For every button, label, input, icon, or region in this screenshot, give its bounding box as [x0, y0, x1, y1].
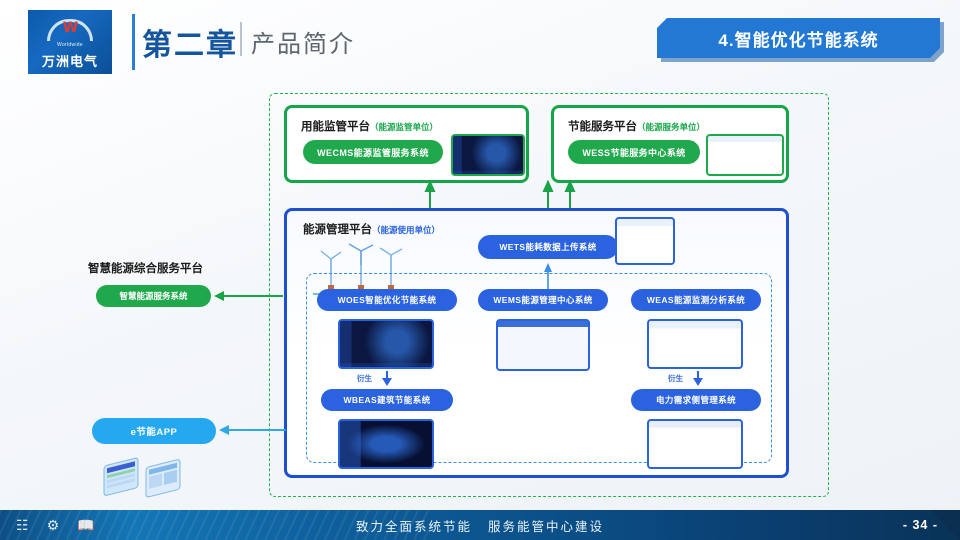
- button-e-energy-app[interactable]: e节能APP: [92, 418, 216, 444]
- arrow-app: [216, 421, 288, 441]
- footer-slogan-left: 致力全面系统节能: [356, 516, 472, 535]
- title-separator: [240, 22, 242, 56]
- panel-title-text: 能源管理平台: [303, 224, 372, 236]
- footer-slogan: 致力全面系统节能 服务能管中心建设: [0, 510, 960, 540]
- panel-energy-service: 节能服务平台（能源服务单位） WESS节能服务中心系统: [551, 105, 789, 183]
- thumb-wems-charts: [496, 319, 590, 371]
- button-wecms[interactable]: WECMS能源监管服务系统: [303, 140, 443, 164]
- panel-title-management: 能源管理平台（能源使用单位）: [303, 221, 440, 237]
- button-wems[interactable]: WEMS能源管理中心系统: [478, 289, 608, 311]
- thumb-wets-report: [615, 217, 675, 265]
- section-tag-banner: 4.智能优化节能系统: [657, 18, 940, 58]
- slide-header: W Worldwide 万洲电气 第二章 产品简介 4.智能优化节能系统: [0, 0, 960, 88]
- derive-label-weas: 衍生: [668, 373, 683, 384]
- panel-title-supervision: 用能监管平台（能源监管单位）: [301, 118, 438, 134]
- derive-arrow-woes-icon: [379, 371, 395, 387]
- button-woes[interactable]: WOES智能优化节能系统: [317, 289, 457, 311]
- page-number: - 34 -: [903, 510, 938, 540]
- thumb-weas-gauges: [647, 319, 743, 369]
- derive-arrow-weas-icon: [690, 371, 706, 387]
- thumb-wecms-dashboard: [451, 134, 525, 176]
- panel-title-paren: （能源服务单位）: [637, 122, 705, 132]
- section-tag-label: 4.智能优化节能系统: [718, 26, 878, 51]
- footer-slogan-right: 服务能管中心建设: [488, 516, 604, 535]
- thumb-dsm-map: [647, 419, 743, 469]
- panel-title-text: 节能服务平台: [568, 121, 637, 133]
- button-weas[interactable]: WEAS能源监测分析系统: [631, 289, 761, 311]
- button-smart-energy-service[interactable]: 智慧能源服务系统: [96, 285, 211, 307]
- panel-energy-supervision: 用能监管平台（能源监管单位） WECMS能源监管服务系统: [284, 105, 529, 183]
- button-dsm[interactable]: 电力需求侧管理系统: [631, 389, 761, 411]
- thumb-woes-scada: [338, 319, 434, 369]
- panel-title-paren: （能源监管单位）: [370, 122, 438, 132]
- chapter-subtitle: 产品简介: [251, 24, 355, 59]
- panel-title-paren: （能源使用单位）: [372, 225, 440, 235]
- panel-energy-management: 能源管理平台（能源使用单位） WETS能耗数据上传系统: [284, 208, 789, 478]
- thumb-wbeas-nav: [338, 419, 434, 469]
- button-wbeas[interactable]: WBEAS建筑节能系统: [321, 389, 453, 411]
- side-heading-smart-energy: 智慧能源综合服务平台: [88, 260, 203, 276]
- panel-title-text: 用能监管平台: [301, 121, 370, 133]
- logo-en-text: Worldwide: [57, 42, 83, 48]
- company-logo: W Worldwide 万洲电气: [28, 10, 112, 74]
- button-wess[interactable]: WESS节能服务中心系统: [568, 140, 700, 164]
- logo-letter: W: [47, 20, 93, 36]
- derive-label-woes: 衍生: [357, 373, 372, 384]
- thumb-wess-schematic: [706, 134, 784, 176]
- header-divider: [132, 14, 135, 70]
- logo-mark-icon: W: [47, 15, 93, 41]
- logo-cn-text: 万洲电气: [42, 51, 98, 70]
- chapter-title: 第二章: [142, 20, 238, 64]
- button-wets[interactable]: WETS能耗数据上传系统: [478, 235, 618, 259]
- diagram-stage: 用能监管平台（能源监管单位） WECMS能源监管服务系统 节能服务平台（能源服务…: [0, 88, 960, 498]
- slide-footer: ☷ ⚙ 📖 致力全面系统节能 服务能管中心建设 - 34 -: [0, 510, 960, 540]
- panel-title-service: 节能服务平台（能源服务单位）: [568, 118, 705, 134]
- arrow-smart-energy: [211, 287, 286, 307]
- phone-mockups-illustration: [96, 450, 206, 498]
